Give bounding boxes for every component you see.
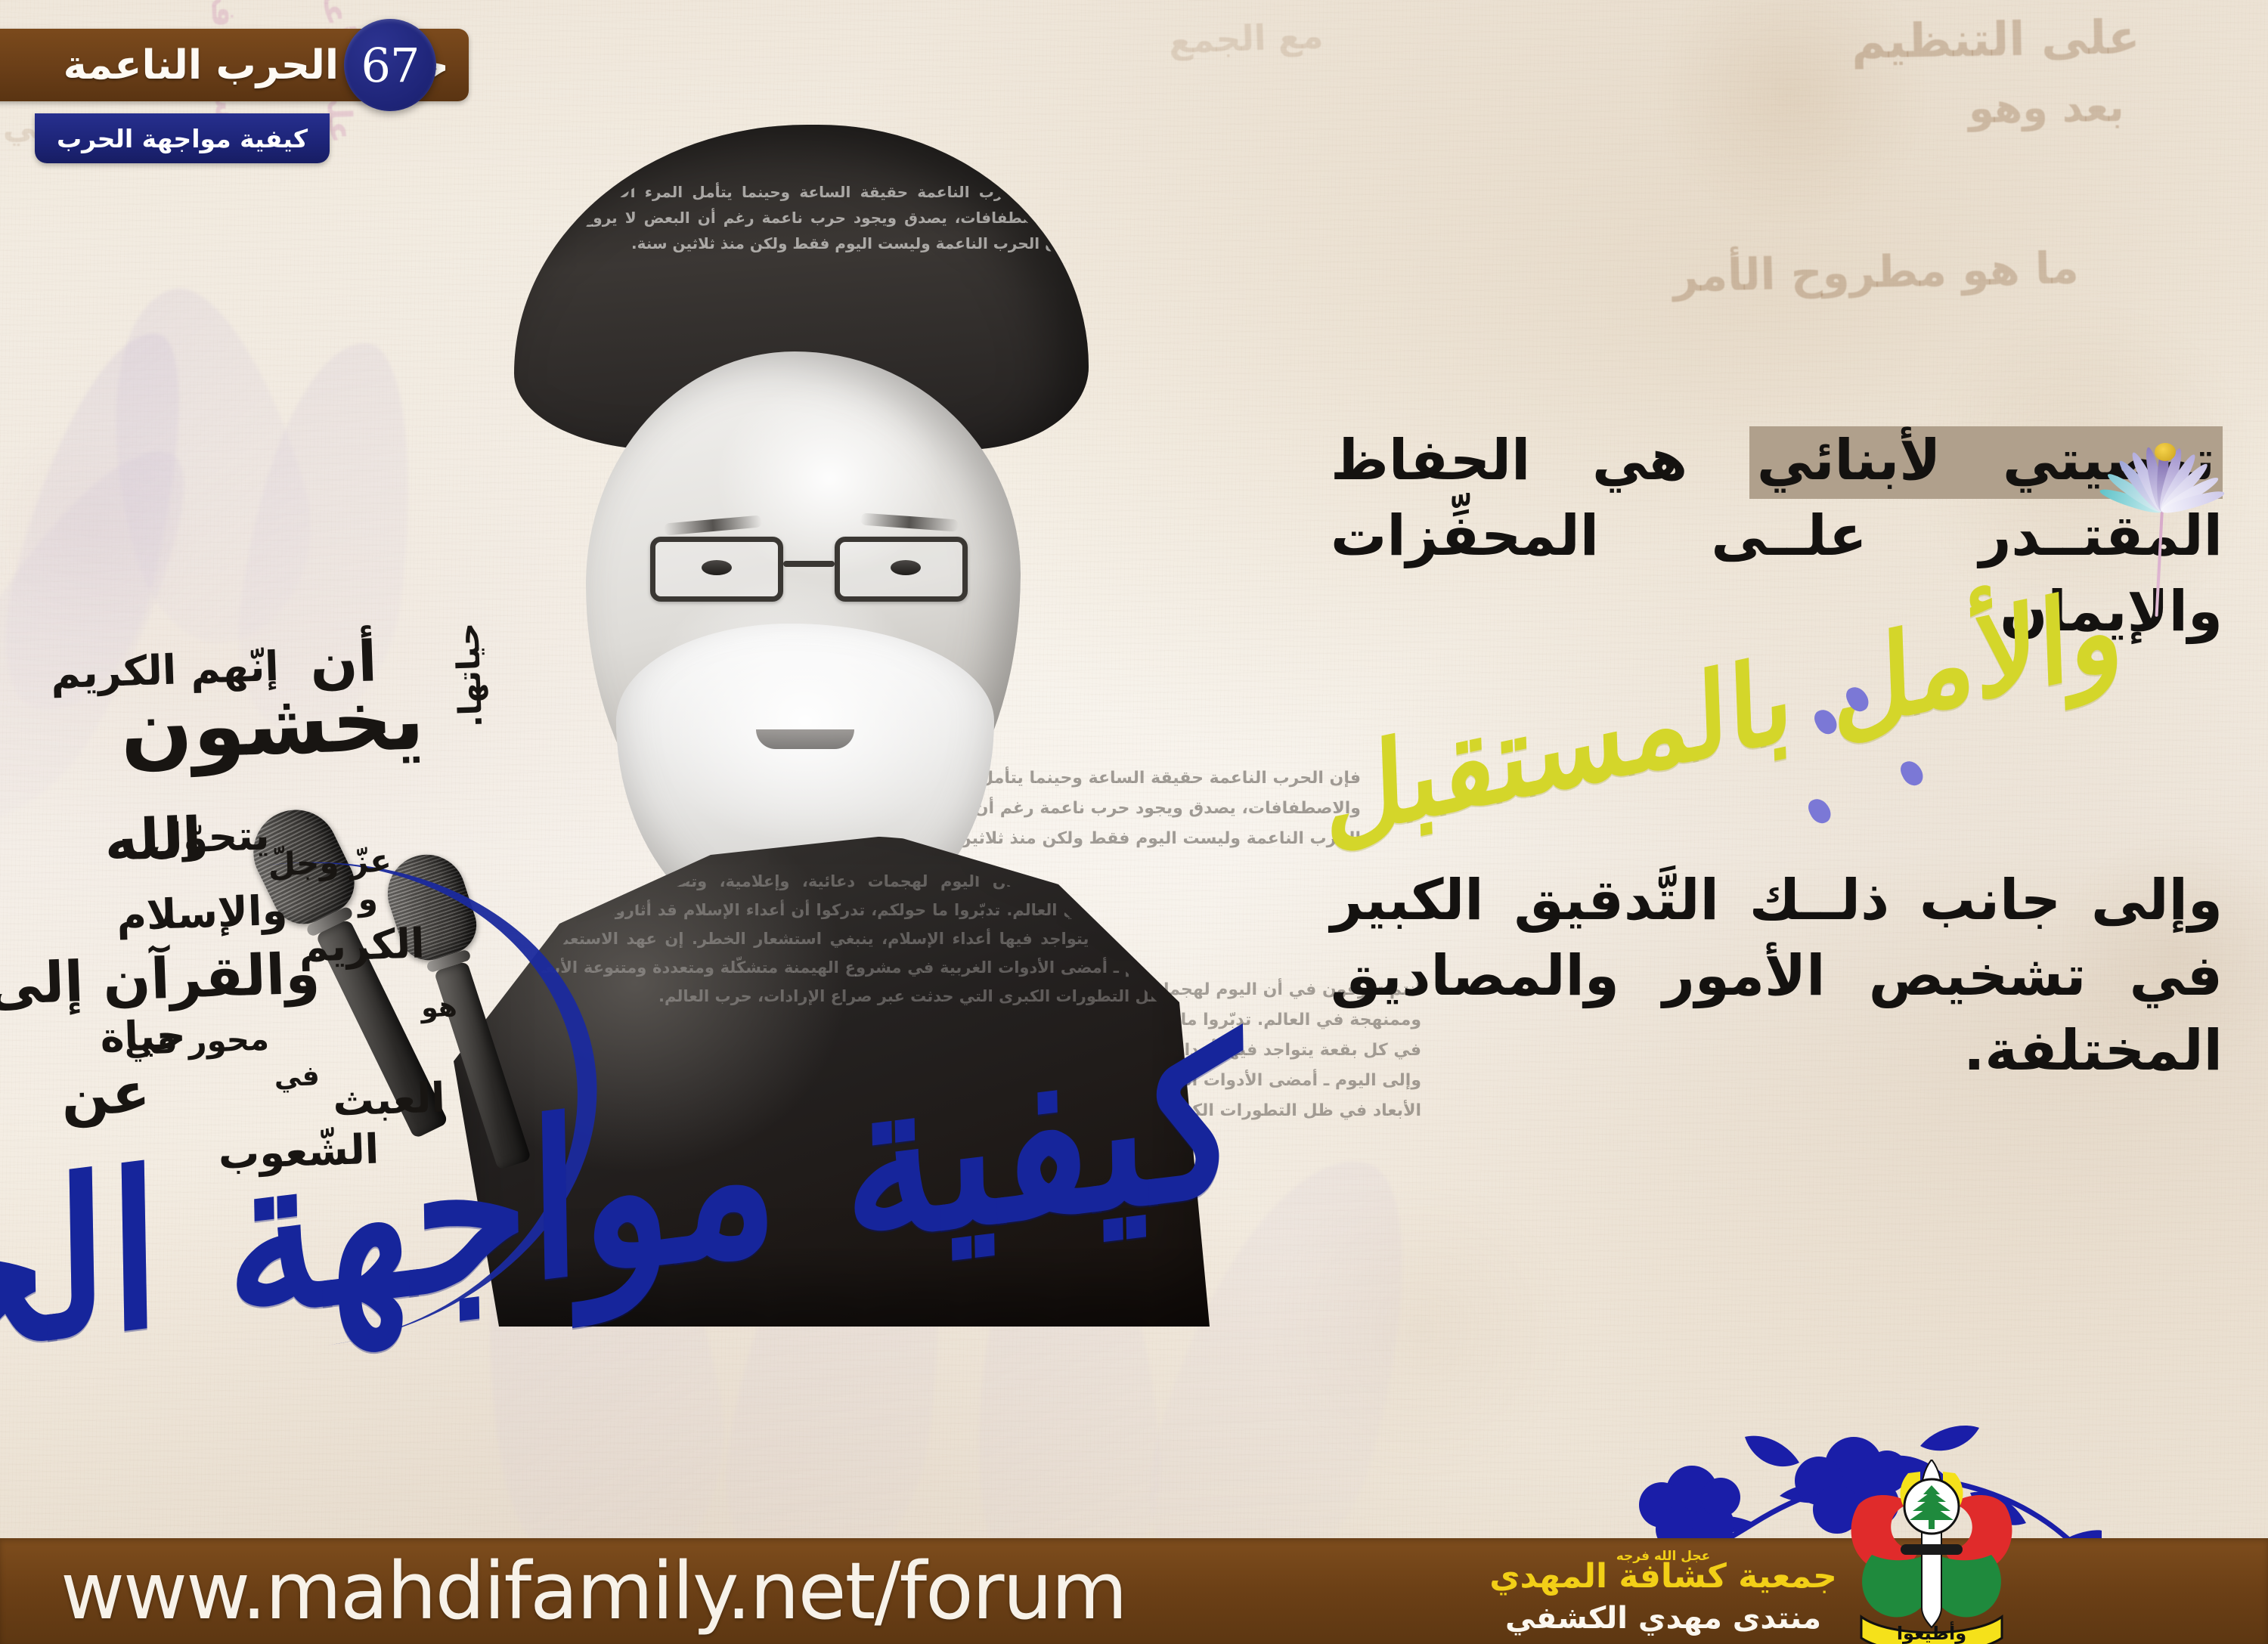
poster-canvas: على التنظيم بعد وهو ما هو مطروح الأمر لا… <box>0 0 2268 1644</box>
right-text-column: توصيتي لأبنائي هي الحفاظ المقتــدر علــى… <box>1331 423 2223 1089</box>
emblem-right-green <box>1934 1553 2001 1617</box>
issue-number-text: 67 <box>361 38 420 93</box>
emblem-left-green <box>1862 1553 1929 1617</box>
quote-highlight: توصيتي لأبنائي <box>1749 426 2223 499</box>
org-name-white: منتدى مهدي الكشفي <box>1414 1602 1913 1635</box>
emblem-motto-text: وأطيعوا <box>1897 1621 1966 1644</box>
subtitle-text: كيفية مواجهة الحرب <box>57 124 308 153</box>
calligraphy-dot <box>1898 757 1926 789</box>
organization-block: عجل الله فرجه جمعية كشافة المهدي منتدى م… <box>1414 1549 1913 1635</box>
yellow-calligraphy-block: والأمل بالمستقبل <box>1331 664 2223 837</box>
footer-bar: www.mahdifamily.net/forum عجل الله فرجه … <box>0 1538 2268 1644</box>
org-name-yellow: جمعية كشافة المهدي <box>1414 1559 1913 1594</box>
website-url[interactable]: www.mahdifamily.net/forum <box>60 1545 1126 1637</box>
scout-emblem-logo: وأطيعوا <box>1845 1460 2019 1644</box>
subtitle-banner: كيفية مواجهة الحرب <box>35 113 330 163</box>
issue-number-badge: 67 <box>344 19 436 111</box>
emblem-crossbar <box>1901 1544 1963 1555</box>
quote-paragraph-2: وإلى جانب ذلــك التَّدقيق الكبير في تشخي… <box>1331 863 2223 1090</box>
calligraphy-dot <box>1805 795 1834 827</box>
